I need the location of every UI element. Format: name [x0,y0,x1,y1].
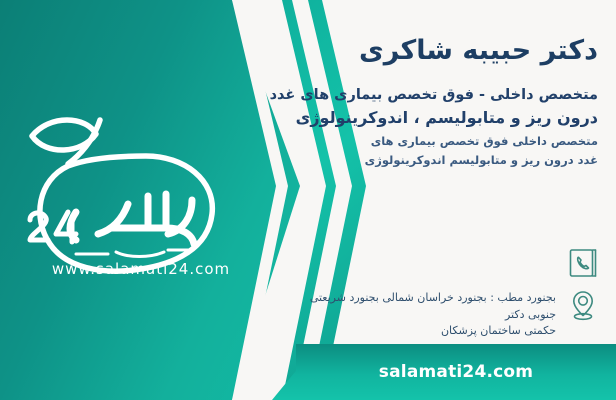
footer-bar: salamati24.com [296,344,616,400]
contact-row-address[interactable]: بجنورد مطب : بجنورد خراسان شمالی بجنورد … [282,288,600,340]
contact-row-phone[interactable] [282,246,600,282]
address-line-1: بجنورد مطب : بجنورد خراسان شمالی بجنورد … [282,290,556,323]
salamati24-logo: www.salamati24.com [16,108,266,278]
specialty-line-1: متخصص داخلی - فوق تخصص بیماری های غدد [258,84,598,106]
doctor-profile-card: www.salamati24.com دکتر حبیبه شاکری متخص… [0,0,616,400]
specialty-sub-1: متخصص داخلی فوق تخصص بیماری های [258,133,598,150]
footer-website[interactable]: salamati24.com [379,362,533,382]
map-pin-icon [566,288,600,322]
doctor-info-block: دکتر حبیبه شاکری متخصص داخلی - فوق تخصص … [258,34,598,170]
doctor-name: دکتر حبیبه شاکری [258,34,598,68]
address-text: بجنورد مطب : بجنورد خراسان شمالی بجنورد … [282,288,556,340]
phone-text [282,246,556,248]
apple-outline-logo [16,108,266,278]
contact-list: بجنورد مطب : بجنورد خراسان شمالی بجنورد … [282,246,600,346]
specialty-sub-2: غدد درون ریز و متابولیسم اندوکرینولوژی [258,152,598,169]
phone-book-icon [566,246,600,280]
specialty-line-2: درون ریز و متابولیسم ، اندوکرینولوژی [258,106,598,131]
logo-url: www.salamati24.com [16,260,266,278]
address-line-2: حکمتی ساختمان پزشکان [282,323,556,340]
